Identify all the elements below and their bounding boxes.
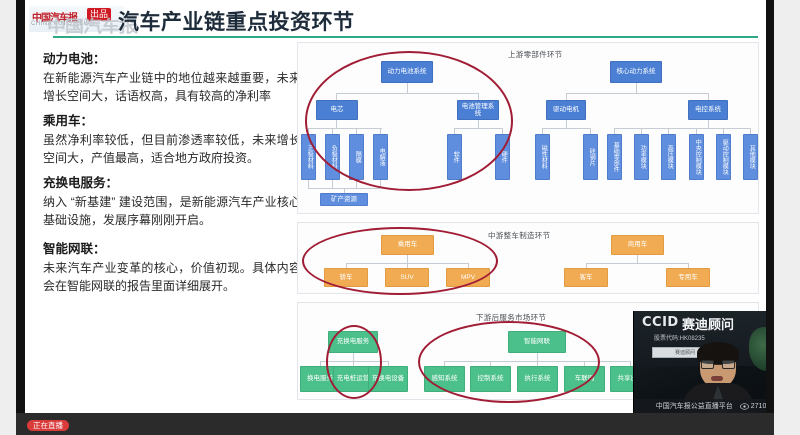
node-anode-material[interactable]: 负极材料: [325, 134, 340, 180]
node-sedan[interactable]: 轿车: [324, 268, 368, 287]
commentary-heading: 乘用车：: [43, 112, 301, 130]
live-status-badge: 正在直播: [27, 420, 69, 431]
avatar-mouth: [711, 376, 723, 381]
backdrop-stock-code: 股票代码:HK08235: [654, 333, 705, 342]
commentary-heading: 充换电服务：: [43, 174, 301, 192]
viewer-count-group: 27108: [740, 403, 766, 410]
node-basic-components[interactable]: 基础零部件: [607, 134, 622, 180]
node-passenger-vehicle[interactable]: 乘用车: [381, 235, 434, 255]
node-mpv[interactable]: MPV: [446, 268, 490, 287]
midstream-panel: 中游整车制造环节 乘用车 轿车 SUV MPV 商用车 客车 专用车: [297, 222, 759, 294]
backdrop-brand-cn: 赛迪顾问: [682, 314, 734, 333]
node-power-module[interactable]: 功率模块: [634, 134, 649, 180]
node-software[interactable]: 软件: [447, 134, 462, 180]
node-separator[interactable]: 隔膜: [349, 134, 364, 180]
commentary-block: 乘用车： 虽然净利率较低，但目前渗透率较低，未来增长空间大，产值最高，适合地方政…: [43, 112, 301, 167]
window-frame-left: [16, 0, 25, 435]
node-central-control-module[interactable]: 中央控制模块: [689, 134, 704, 180]
midstream-panel-title: 中游整车制造环节: [488, 230, 550, 241]
upstream-panel: 上游零部件环节 动力电池系统 电芯 电池管理系统 正极材料 负极材料 隔膜 电解…: [297, 42, 759, 214]
screen-root: 中国汽车报 出品 CHINA AUTO NEWS 中国汽车报 汽车产业链重点投资…: [0, 0, 800, 435]
node-high-voltage-module[interactable]: 高压模块: [661, 134, 676, 180]
node-execution-system[interactable]: 执行系统: [517, 366, 558, 392]
node-silicon-steel[interactable]: 硅钢片: [583, 134, 598, 180]
node-charging-swapping-service[interactable]: 充换电服务: [328, 331, 378, 353]
upstream-panel-title: 上游零部件环节: [508, 49, 563, 60]
node-charging-pile-operation[interactable]: 充电桩运营: [333, 366, 373, 392]
slide-page: 中国汽车报 出品 CHINA AUTO NEWS 中国汽车报 汽车产业链重点投资…: [25, 0, 766, 413]
commentary-block: 智能网联： 未来汽车产业变革的核心，价值初现。具体内容会在智能网联的报告里面详细…: [43, 240, 301, 295]
node-perception-system[interactable]: 感知系统: [424, 366, 465, 392]
node-telematics[interactable]: 车联网: [564, 366, 605, 392]
commentary-heading: 智能网联：: [43, 240, 301, 258]
node-special-vehicle[interactable]: 专用车: [666, 268, 710, 287]
window-status-bar: [16, 413, 774, 435]
downstream-panel-title: 下游后服务市场环节: [476, 312, 546, 323]
slide-header: 中国汽车报 出品 CHINA AUTO NEWS 中国汽车报 汽车产业链重点投资…: [25, 2, 766, 38]
commentary-body: 虽然净利率较低，但目前渗透率较低，未来增长空间大，产值最高，适合地方政府投资。: [43, 131, 301, 167]
node-control-system-icv[interactable]: 控制系统: [470, 366, 511, 392]
commentary-body: 未来汽车产业变革的核心，价值初现。具体内容会在智能网联的报告里面详细展开。: [43, 259, 301, 295]
node-hardware[interactable]: 硬件: [495, 134, 510, 180]
node-cathode-material[interactable]: 正极材料: [301, 134, 316, 180]
eye-icon: [740, 403, 749, 410]
commentary-panel: 动力电池： 在新能源汽车产业链中的地位越来越重要，未来增长空间大，话语权高，具有…: [43, 50, 301, 302]
video-caption-bar: 中国汽车报公益直播平台 27108: [634, 399, 766, 413]
platform-label: 中国汽车报公益直播平台: [656, 401, 733, 411]
backdrop-brand-latin: CCID: [642, 315, 679, 330]
node-bus[interactable]: 客车: [564, 268, 608, 287]
commentary-block: 充换电服务： 纳入 “新基建” 建设范围，是新能源汽车产业核心基础设施，发展序幕…: [43, 174, 301, 229]
node-battery-cell[interactable]: 电芯: [316, 100, 358, 120]
node-drive-control-module[interactable]: 驱动控制模块: [716, 134, 731, 180]
commentary-block: 动力电池： 在新能源汽车产业链中的地位越来越重要，未来增长空间大，话语权高，具有…: [43, 50, 301, 105]
node-control-system[interactable]: 电控系统: [688, 100, 728, 120]
node-core-powertrain-system[interactable]: 核心动力系统: [610, 61, 662, 83]
live-video-overlay[interactable]: CCID 赛迪顾问 股票代码:HK08235 赛迪顾问 中国汽车报公益直播平台: [633, 311, 766, 413]
commentary-heading: 动力电池：: [43, 50, 301, 68]
page-title: 汽车产业链重点投资环节: [118, 6, 355, 36]
node-power-battery-system[interactable]: 动力电池系统: [381, 61, 433, 83]
node-mineral-resources[interactable]: 矿产资源: [320, 193, 368, 206]
node-magnetic-material[interactable]: 磁性材料: [535, 134, 550, 180]
node-electrolyte[interactable]: 电解液: [373, 134, 388, 180]
glasses-icon: [701, 360, 735, 369]
header-divider: [53, 36, 758, 38]
node-charging-swapping-equipment[interactable]: 充换电设备: [368, 366, 408, 392]
node-commercial-vehicle[interactable]: 商用车: [611, 235, 664, 255]
commentary-body: 纳入 “新基建” 建设范围，是新能源汽车产业核心基础设施，发展序幕刚刚开启。: [43, 193, 301, 229]
viewer-count: 27108: [751, 403, 766, 410]
node-intelligent-connected-vehicle[interactable]: 智能网联: [508, 331, 566, 353]
window-frame-right: [766, 0, 774, 435]
node-other-modules[interactable]: 其他模块: [743, 134, 758, 180]
node-battery-management-system[interactable]: 电池管理系统: [457, 100, 499, 120]
node-drive-motor[interactable]: 驱动电机: [546, 100, 586, 120]
node-suv[interactable]: SUV: [385, 268, 429, 287]
commentary-body: 在新能源汽车产业链中的地位越来越重要，未来增长空间大，话语权高，具有较高的净利率: [43, 69, 301, 105]
